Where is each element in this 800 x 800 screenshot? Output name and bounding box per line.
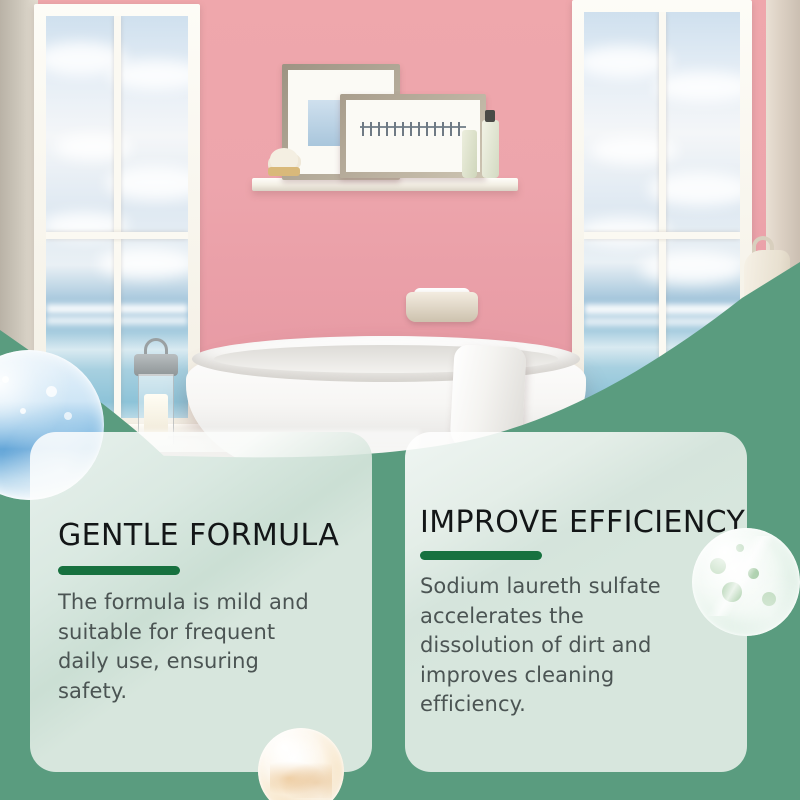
botanical-bubble [692,528,800,636]
wall-basket [406,292,478,322]
accent-bar-improve-efficiency [420,551,542,560]
card-body-gentle-formula: The formula is mild and suitable for fre… [58,588,326,706]
bath-bottle-1 [462,130,477,178]
accent-bar-gentle-formula [58,566,180,575]
potted-plant [672,342,734,416]
card-title-gentle-formula: GENTLE FORMULA [58,518,339,553]
bath-bottle-2 [482,120,499,178]
card-body-improve-efficiency: Sodium laureth sulfate accelerates the d… [420,572,690,720]
product-feature-banner: GENTLE FORMULA The formula is mild and s… [0,0,800,800]
amber-bubble [258,728,344,800]
small-fern [734,372,778,412]
coral-ornament [264,140,304,176]
ceramic-vase [650,368,666,410]
